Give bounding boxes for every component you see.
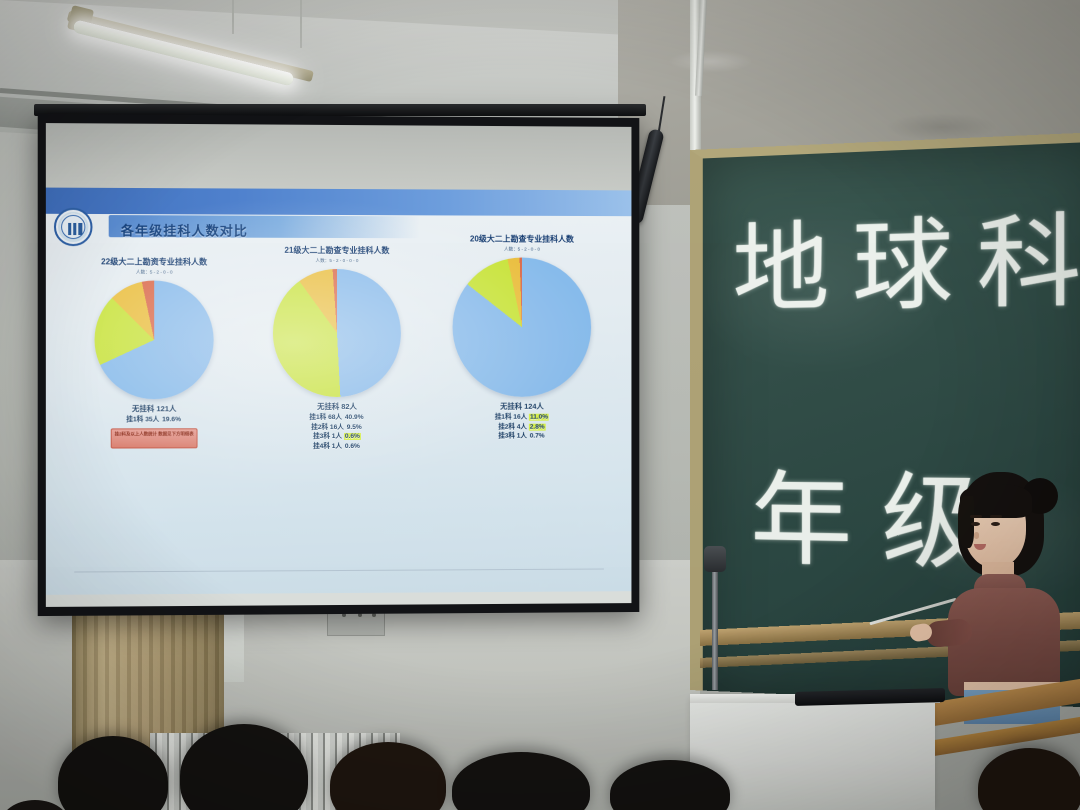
chart-title-1: 22级大二上勘资专业挂科人数 bbox=[60, 256, 248, 268]
pie-chart-2 bbox=[273, 269, 401, 397]
charts-row: 22级大二上勘资专业挂科人数 人数：5 - 2 - 0 - 0 无挂科 121人… bbox=[46, 232, 632, 534]
legend-label: 挂2科 4人 bbox=[498, 423, 527, 430]
legend-label: 无挂科 124人 bbox=[500, 402, 543, 411]
legend-label: 无挂科 121人 bbox=[132, 404, 176, 413]
slide-header-bar bbox=[46, 188, 632, 217]
screen-blank-area bbox=[46, 123, 632, 192]
legend-label: 挂3科 1人 bbox=[498, 433, 527, 440]
pie-chart-1 bbox=[95, 280, 214, 399]
projector-screen[interactable]: 各年级挂科人数对比 22级大二上勘资专业挂科人数 人数：5 - 2 - 0 - … bbox=[38, 114, 640, 616]
legend-label: 挂4科 1人 bbox=[313, 443, 342, 450]
chart-legend-3: 无挂科 124人 挂1科 16人 11.0% 挂2科 4人 2.8% 挂3科 1… bbox=[430, 402, 614, 442]
legend-pct: 9.5% bbox=[346, 424, 363, 431]
legend-pct: 0.7% bbox=[529, 433, 546, 440]
legend-pct: 11.0% bbox=[529, 414, 549, 421]
microphone-icon bbox=[704, 546, 726, 572]
pie-chart-panel-1: 22级大二上勘资专业挂科人数 人数：5 - 2 - 0 - 0 无挂科 121人… bbox=[60, 256, 248, 448]
chart-subtitle-2: 人数：5 - 2 - 0 - 0 - 0 bbox=[244, 258, 430, 265]
pie-chart-3 bbox=[453, 257, 592, 397]
legend-pct: 0.6% bbox=[344, 443, 361, 450]
legend-label: 挂1科 35人 bbox=[126, 416, 159, 423]
legend-label: 无挂科 82人 bbox=[317, 402, 357, 411]
legend-pct: 0.6% bbox=[344, 433, 361, 440]
presentation-slide: 各年级挂科人数对比 22级大二上勘资专业挂科人数 人数：5 - 2 - 0 - … bbox=[46, 188, 632, 595]
chart-title-3: 20级大二上勘查专业挂科人数 bbox=[430, 233, 614, 245]
chart-subtitle-3: 人数：5 - 2 - 0 - 0 bbox=[430, 246, 614, 253]
chart-note-box-1: 挂2科及以上人数统计 数据见下方明细表 bbox=[111, 428, 198, 448]
legend-pct: 2.8% bbox=[529, 423, 546, 430]
chart-legend-1: 无挂科 121人 挂1科 35人 19.6% bbox=[60, 404, 248, 425]
pie-chart-panel-3: 20级大二上勘查专业挂科人数 人数：5 - 2 - 0 - 0 无挂科 124人… bbox=[430, 233, 614, 442]
legend-pct: 40.9% bbox=[344, 414, 365, 421]
slide-footer-divider bbox=[74, 569, 604, 573]
legend-label: 挂2科 16人 bbox=[311, 424, 344, 431]
legend-pct: 19.6% bbox=[161, 416, 182, 423]
chart-title-2: 21级大二上勘查专业挂科人数 bbox=[244, 245, 430, 257]
microphone-stand bbox=[712, 560, 718, 690]
lamp-hanging-wire bbox=[300, 0, 302, 48]
chart-subtitle-1: 人数：5 - 2 - 0 - 0 bbox=[60, 269, 248, 276]
legend-label: 挂1科 16人 bbox=[495, 414, 527, 421]
pie-chart-panel-2: 21级大二上勘查专业挂科人数 人数：5 - 2 - 0 - 0 - 0 无挂科 … bbox=[244, 245, 430, 453]
blackboard-text-line1: 地球科 bbox=[733, 178, 1080, 332]
chart-legend-2: 无挂科 82人 挂1科 68人 40.9% 挂2科 16人 9.5% 挂3科 1… bbox=[244, 402, 430, 452]
classroom-scene: 地球科 年级 bbox=[0, 0, 1080, 810]
lamp-hanging-wire bbox=[232, 0, 234, 34]
legend-label: 挂3科 1人 bbox=[313, 433, 342, 440]
legend-label: 挂1科 68人 bbox=[309, 414, 342, 421]
